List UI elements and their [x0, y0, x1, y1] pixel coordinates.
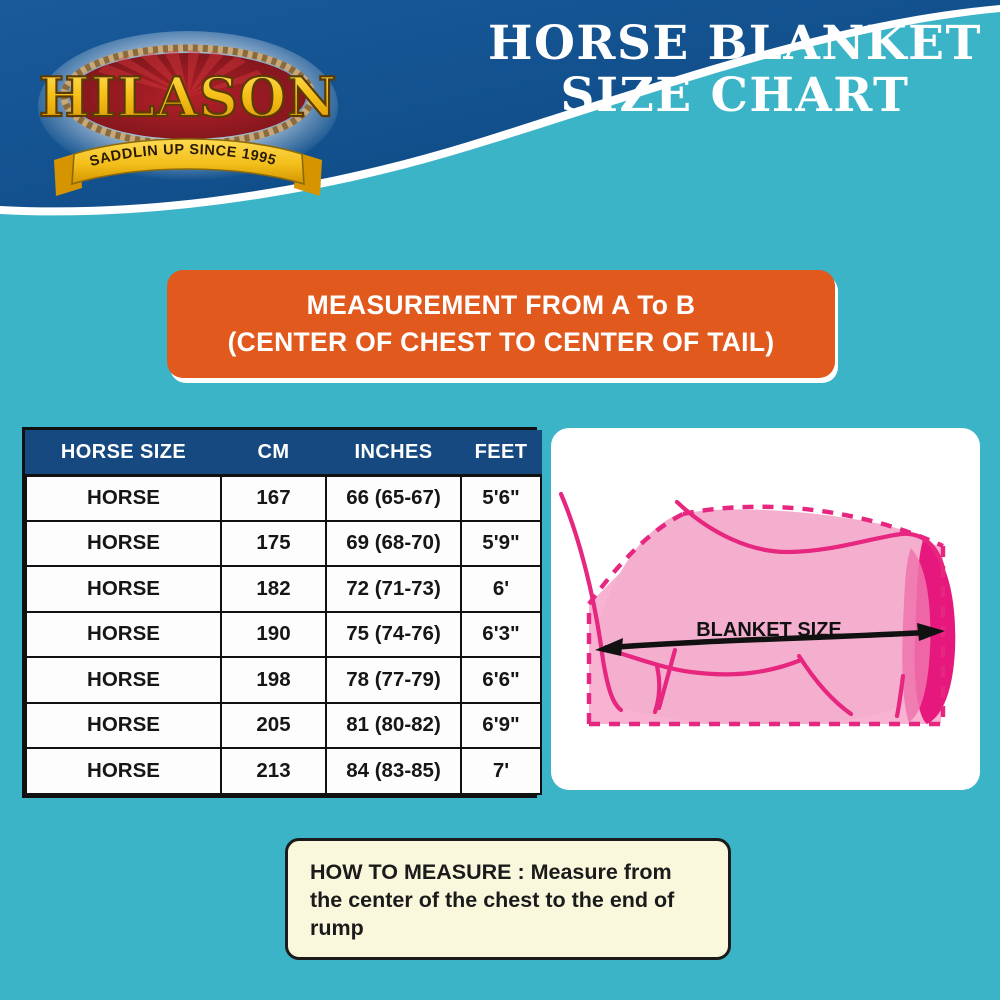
cell-feet: 6' — [461, 566, 541, 612]
cell-feet: 7' — [461, 748, 541, 794]
cell-cm: 198 — [221, 657, 326, 703]
cell-feet: 5'9" — [461, 521, 541, 567]
page-title-line2: SIZE CHART — [480, 70, 990, 122]
column-header-inches: INCHES — [326, 431, 461, 475]
table-row: HORSE19878 (77-79)6'6" — [26, 657, 541, 703]
cell-cm: 213 — [221, 748, 326, 794]
page-title-line1: HORSE BLANKET — [488, 16, 982, 71]
size-chart-page: HILASON SADDLIN UP SINCE 1995 HORSE BLAN… — [0, 0, 1000, 1000]
blanket-size-label: BLANKET SIZE — [696, 619, 842, 641]
cell-cm: 205 — [221, 703, 326, 749]
cell-inches: 81 (80-82) — [326, 703, 461, 749]
cell-inches: 66 (65-67) — [326, 475, 461, 521]
column-header-horse-size: HORSE SIZE — [26, 431, 221, 475]
size-table-body: HORSE16766 (65-67)5'6"HORSE17569 (68-70)… — [26, 475, 541, 794]
cell-cm: 167 — [221, 475, 326, 521]
size-table-container: HORSE SIZE CM INCHES FEET HORSE16766 (65… — [22, 427, 537, 798]
cell-feet: 6'3" — [461, 612, 541, 658]
table-row: HORSE18272 (71-73)6' — [26, 566, 541, 612]
banner-line-2: (CENTER OF CHEST TO CENTER OF TAIL) — [228, 324, 775, 361]
logo-brand-text: HILASON — [39, 65, 338, 129]
table-row: HORSE17569 (68-70)5'9" — [26, 521, 541, 567]
cell-inches: 84 (83-85) — [326, 748, 461, 794]
table-row: HORSE19075 (74-76)6'3" — [26, 612, 541, 658]
page-title: HORSE BLANKET SIZE CHART — [480, 18, 990, 122]
column-header-cm: CM — [221, 431, 326, 475]
horse-body-fill — [597, 509, 943, 724]
size-table: HORSE SIZE CM INCHES FEET HORSE16766 (65… — [25, 430, 542, 795]
cell-horse-size: HORSE — [26, 703, 221, 749]
measurement-banner: MEASUREMENT FROM A To B (CENTER OF CHEST… — [167, 270, 835, 378]
cell-inches: 78 (77-79) — [326, 657, 461, 703]
how-to-measure-note: HOW TO MEASURE : Measure from the center… — [285, 838, 731, 960]
table-row: HORSE20581 (80-82)6'9" — [26, 703, 541, 749]
banner-line-1: MEASUREMENT FROM A To B — [307, 287, 696, 324]
table-row: HORSE16766 (65-67)5'6" — [26, 475, 541, 521]
cell-horse-size: HORSE — [26, 566, 221, 612]
cell-feet: 5'6" — [461, 475, 541, 521]
table-header-row: HORSE SIZE CM INCHES FEET — [26, 431, 541, 475]
cell-horse-size: HORSE — [26, 521, 221, 567]
cell-horse-size: HORSE — [26, 612, 221, 658]
cell-feet: 6'6" — [461, 657, 541, 703]
cell-cm: 175 — [221, 521, 326, 567]
measurement-banner-wrapper: MEASUREMENT FROM A To B (CENTER OF CHEST… — [163, 268, 845, 386]
cell-inches: 75 (74-76) — [326, 612, 461, 658]
cell-inches: 69 (68-70) — [326, 521, 461, 567]
column-header-feet: FEET — [461, 431, 541, 475]
table-row: HORSE21384 (83-85)7' — [26, 748, 541, 794]
horse-diagram-card: BLANKET SIZE — [551, 428, 980, 790]
cell-inches: 72 (71-73) — [326, 566, 461, 612]
cell-horse-size: HORSE — [26, 475, 221, 521]
cell-feet: 6'9" — [461, 703, 541, 749]
cell-cm: 182 — [221, 566, 326, 612]
logo-graphic: HILASON SADDLIN UP SINCE 1995 — [28, 18, 348, 198]
horse-diagram-graphic: BLANKET SIZE — [551, 428, 980, 790]
size-table-head: HORSE SIZE CM INCHES FEET — [26, 431, 541, 475]
cell-horse-size: HORSE — [26, 748, 221, 794]
cell-cm: 190 — [221, 612, 326, 658]
hilason-logo: HILASON SADDLIN UP SINCE 1995 — [28, 18, 348, 198]
cell-horse-size: HORSE — [26, 657, 221, 703]
how-to-measure-text: HOW TO MEASURE : Measure from the center… — [310, 858, 706, 942]
